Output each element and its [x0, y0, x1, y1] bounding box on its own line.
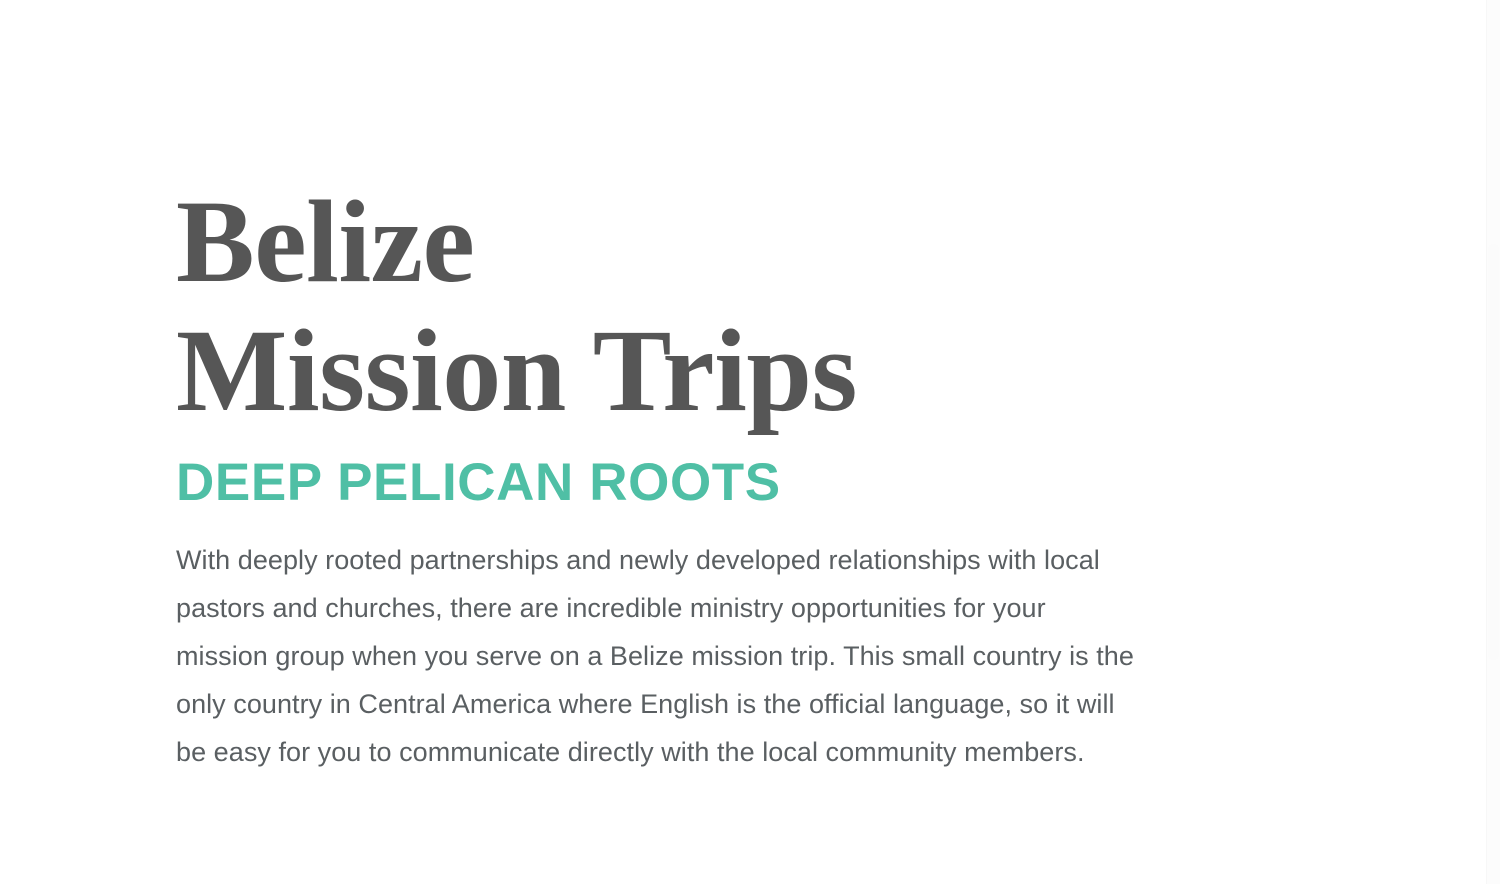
scrollbar-thumb[interactable]	[1488, 244, 1499, 660]
page-title-line-2: Mission Trips	[176, 306, 1406, 435]
page-subtitle: DEEP PELICAN ROOTS	[176, 452, 1406, 514]
body-line-4: only country in Central America where En…	[176, 680, 1391, 728]
body-line-5: be easy for you to communicate directly …	[176, 728, 1391, 776]
page-root: Belize Mission Trips DEEP PELICAN ROOTS …	[0, 0, 1500, 884]
top-spacer	[176, 0, 1406, 177]
page-title-line-1: Belize	[176, 177, 1406, 306]
body-line-2: pastors and churches, there are incredib…	[176, 584, 1391, 632]
body-line-3: mission group when you serve on a Belize…	[176, 632, 1391, 680]
page-title: Belize Mission Trips	[176, 177, 1406, 435]
body-line-1: With deeply rooted partnerships and newl…	[176, 536, 1391, 584]
body-paragraph: With deeply rooted partnerships and newl…	[176, 536, 1391, 776]
hero-content: Belize Mission Trips DEEP PELICAN ROOTS …	[176, 0, 1406, 776]
vertical-scrollbar[interactable]	[1486, 0, 1500, 884]
